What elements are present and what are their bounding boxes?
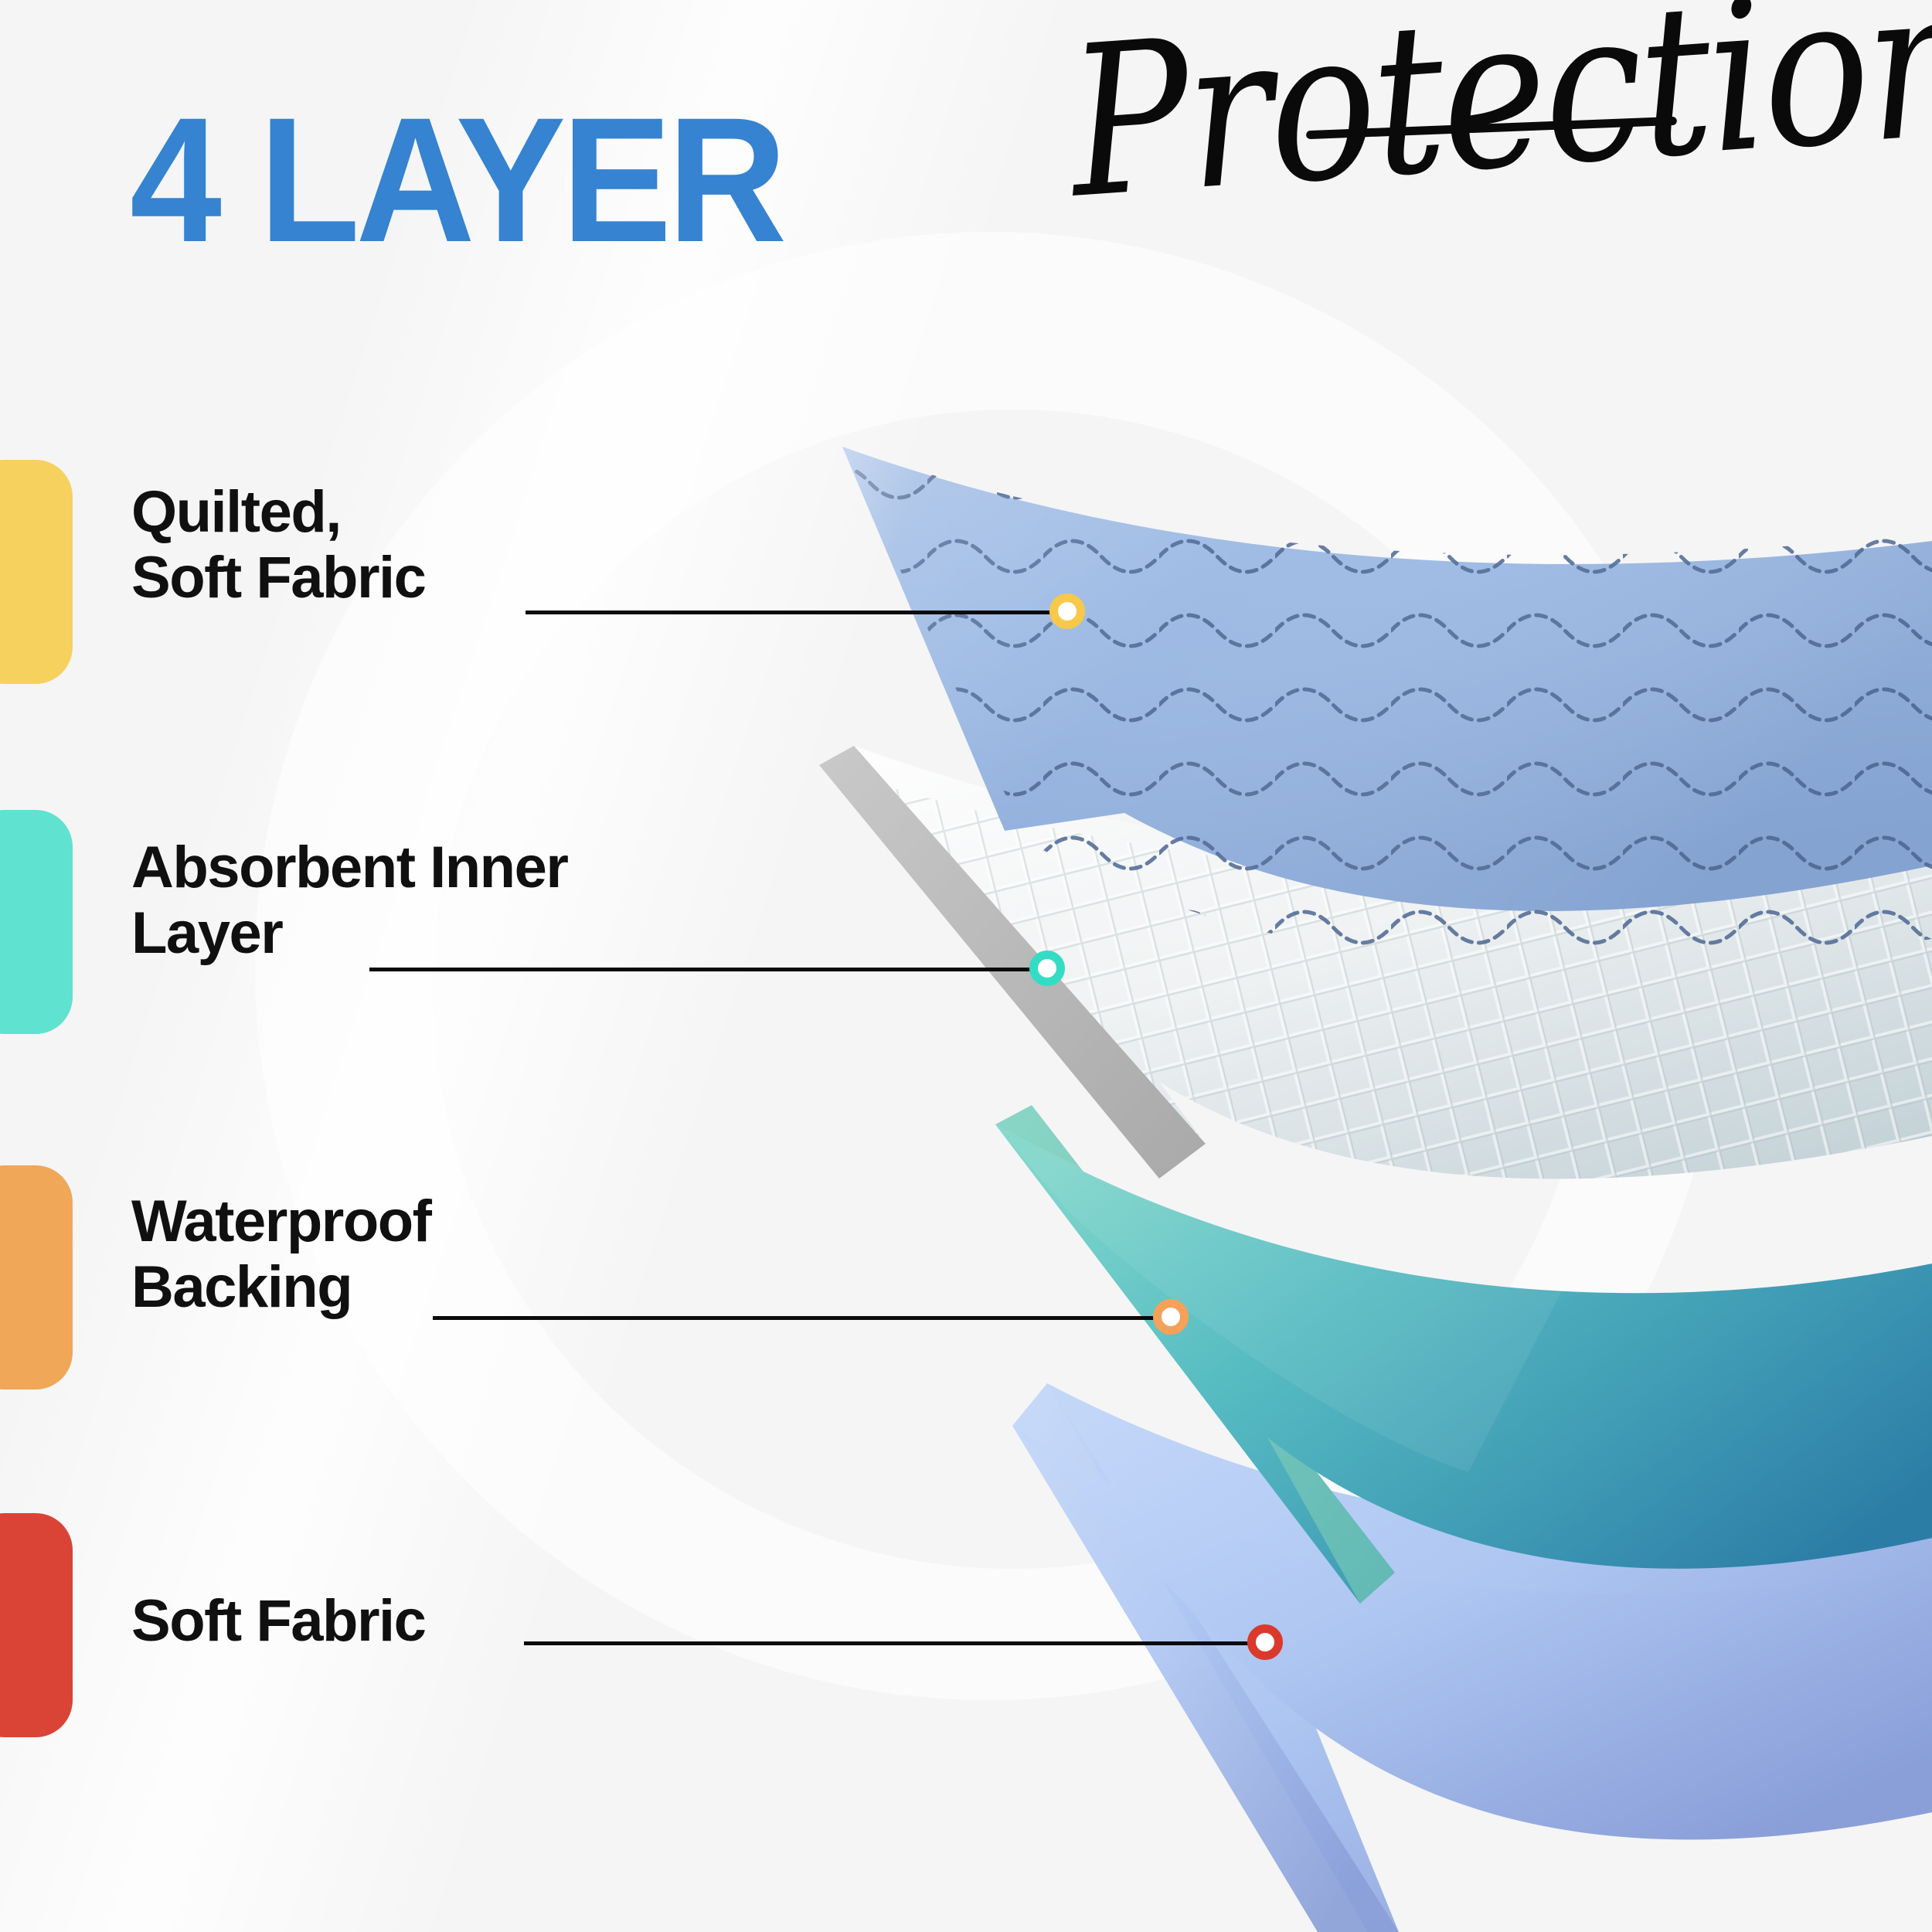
marker-dot-waterproof-backing: [1153, 1299, 1189, 1335]
chip-quilted-soft-fabric: [0, 460, 73, 684]
title-script: Protection: [1063, 0, 1932, 227]
chip-soft-fabric: [0, 1513, 73, 1737]
legend-label-waterproof-backing: Waterproof Backing: [131, 1189, 672, 1320]
infographic-canvas: 4 LAYER Protection Quilted, Soft Fabric …: [0, 0, 1932, 1932]
leader-line-quilted-soft-fabric: [526, 611, 1066, 614]
marker-dot-soft-fabric: [1247, 1624, 1283, 1660]
marker-dot-absorbent-inner-layer: [1029, 951, 1065, 986]
marker-dot-quilted-soft-fabric: [1049, 594, 1085, 629]
leader-line-absorbent-inner-layer: [369, 968, 1046, 971]
layer-quilted-fabric: [773, 402, 1932, 1036]
legend-label-quilted-soft-fabric: Quilted, Soft Fabric: [131, 479, 611, 611]
chip-waterproof-backing: [0, 1165, 73, 1389]
chip-absorbent-inner-layer: [0, 810, 73, 1034]
leader-line-waterproof-backing: [433, 1316, 1171, 1320]
leader-line-soft-fabric: [524, 1641, 1266, 1645]
legend-label-absorbent-inner-layer: Absorbent Inner Layer: [131, 835, 750, 966]
